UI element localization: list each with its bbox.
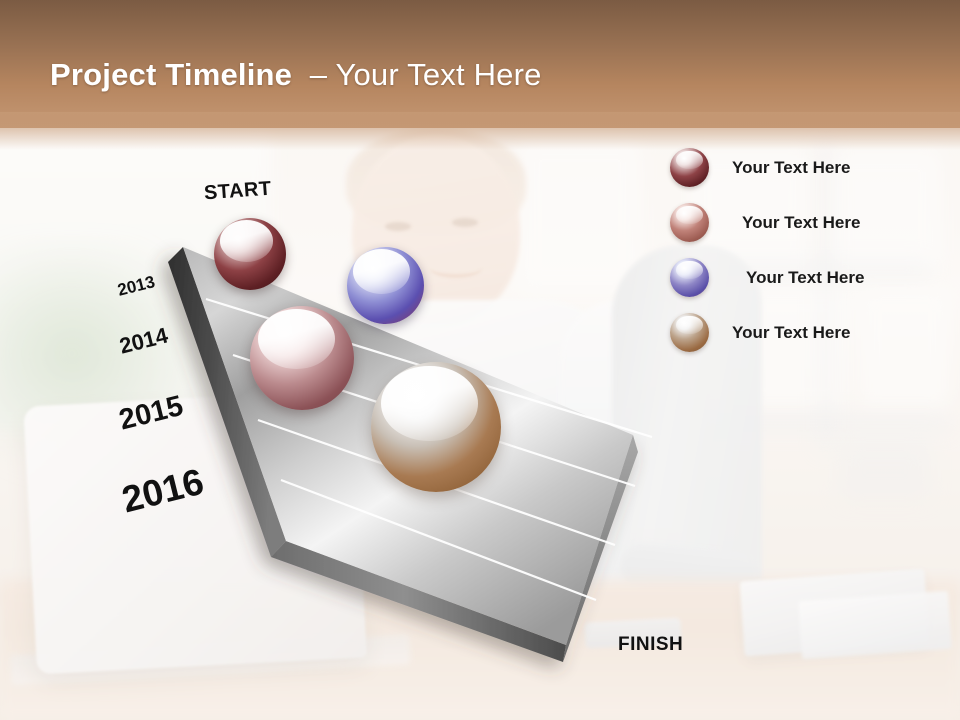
page-title-bold: Project Timeline <box>50 57 292 92</box>
legend-bullet-icon <box>670 258 709 297</box>
legend-item[interactable]: Your Text Here <box>670 140 960 195</box>
legend-item-label: Your Text Here <box>742 213 860 233</box>
milestone-sphere-1[interactable] <box>214 218 286 290</box>
legend-bullet-icon <box>670 203 709 242</box>
legend-bullet-icon <box>670 148 709 187</box>
finish-label: FINISH <box>618 634 683 656</box>
legend-item-label: Your Text Here <box>746 268 864 288</box>
start-label: START <box>203 178 272 206</box>
legend-bullet-icon <box>670 313 709 352</box>
milestone-sphere-4[interactable] <box>371 362 501 492</box>
page-title-regular: – Your Text Here <box>310 57 542 92</box>
legend-item[interactable]: Your Text Here <box>670 250 960 305</box>
legend-item-label: Your Text Here <box>732 323 850 343</box>
milestone-sphere-3[interactable] <box>250 306 354 410</box>
page-title: Project Timeline – Your Text Here <box>50 57 542 93</box>
legend-list: Your Text Here Your Text Here Your Text … <box>670 140 960 360</box>
milestone-sphere-2[interactable] <box>347 247 424 324</box>
legend-item[interactable]: Your Text Here <box>670 305 960 360</box>
legend-item-label: Your Text Here <box>732 158 850 178</box>
legend-item[interactable]: Your Text Here <box>670 195 960 250</box>
slide-canvas: Project Timeline – Your Text Here START … <box>0 0 960 720</box>
